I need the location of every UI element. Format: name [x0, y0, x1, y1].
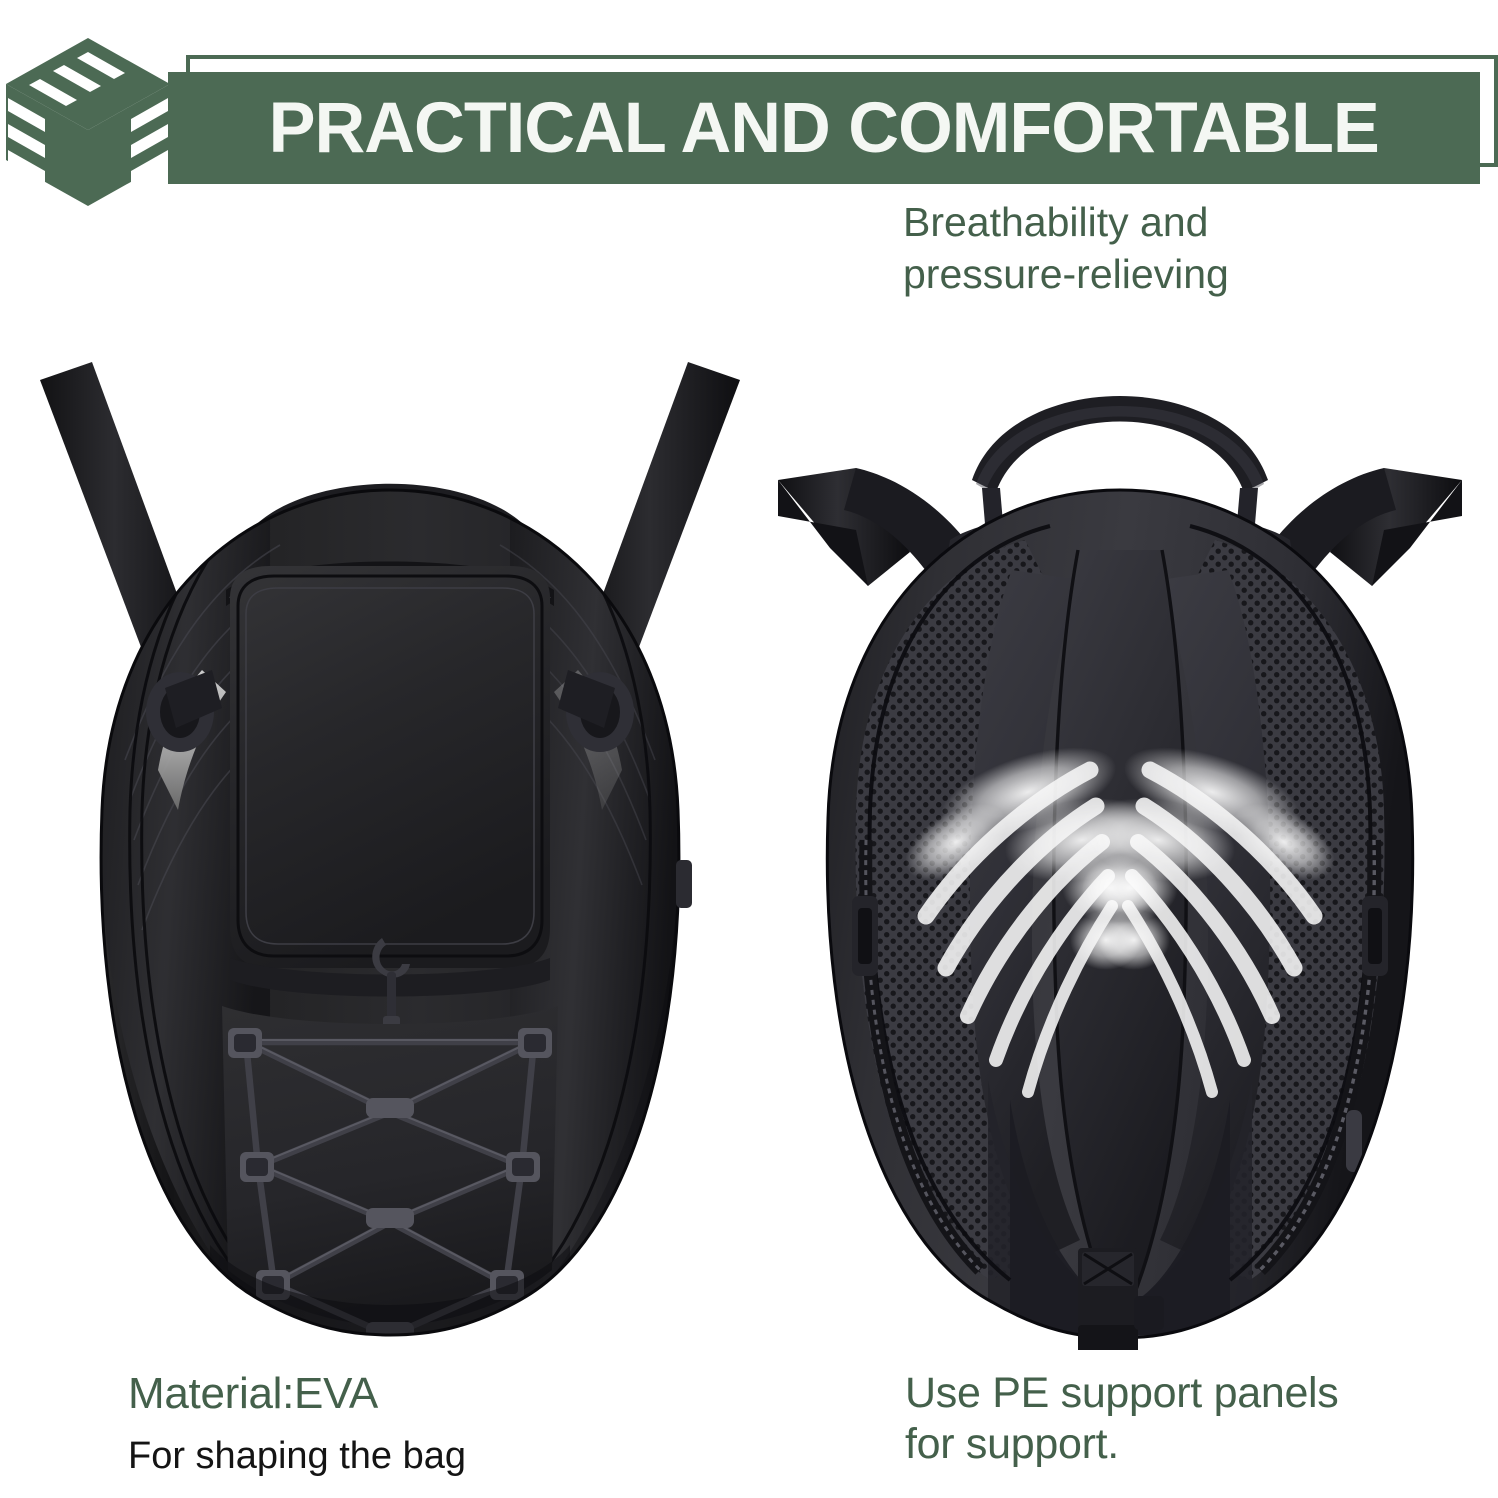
front-flap-pocket [230, 566, 550, 968]
bag-back-stage [760, 340, 1480, 1350]
side-adjuster-left [852, 896, 878, 976]
caption-right-title-line2: for support. [905, 1419, 1465, 1470]
bag-front-stage [30, 340, 750, 1350]
bag-body-back [827, 490, 1412, 1338]
caption-material-eva: Material:EVA For shaping the bag [128, 1368, 688, 1481]
bottom-strap [1078, 1248, 1138, 1350]
infographic-page: PRACTICAL AND COMFORTABLE Breathability … [0, 0, 1498, 1498]
product-image-bag-front [30, 340, 750, 1350]
isometric-cube-chevron-logo [4, 36, 172, 208]
page-title: PRACTICAL AND COMFORTABLE [269, 93, 1379, 164]
side-tab [676, 860, 692, 908]
side-adjuster-right [1362, 896, 1388, 976]
caption-left-subtitle: For shaping the bag [128, 1433, 688, 1481]
caption-left-title: Material:EVA [128, 1368, 688, 1419]
bottom-buckle [1134, 1296, 1164, 1330]
banner-bar: PRACTICAL AND COMFORTABLE [168, 72, 1480, 184]
product-image-bag-back [760, 340, 1480, 1350]
annotation-breathability-line2: pressure-relieving [903, 248, 1423, 300]
header-banner: PRACTICAL AND COMFORTABLE [0, 0, 1498, 215]
caption-right-title-line1: Use PE support panels [905, 1368, 1465, 1419]
annotation-breathability: Breathability and pressure-relieving [903, 196, 1423, 301]
annotation-breathability-line1: Breathability and [903, 196, 1423, 248]
caption-pe-support: Use PE support panels for support. [905, 1368, 1465, 1469]
bag-body [101, 490, 679, 1350]
